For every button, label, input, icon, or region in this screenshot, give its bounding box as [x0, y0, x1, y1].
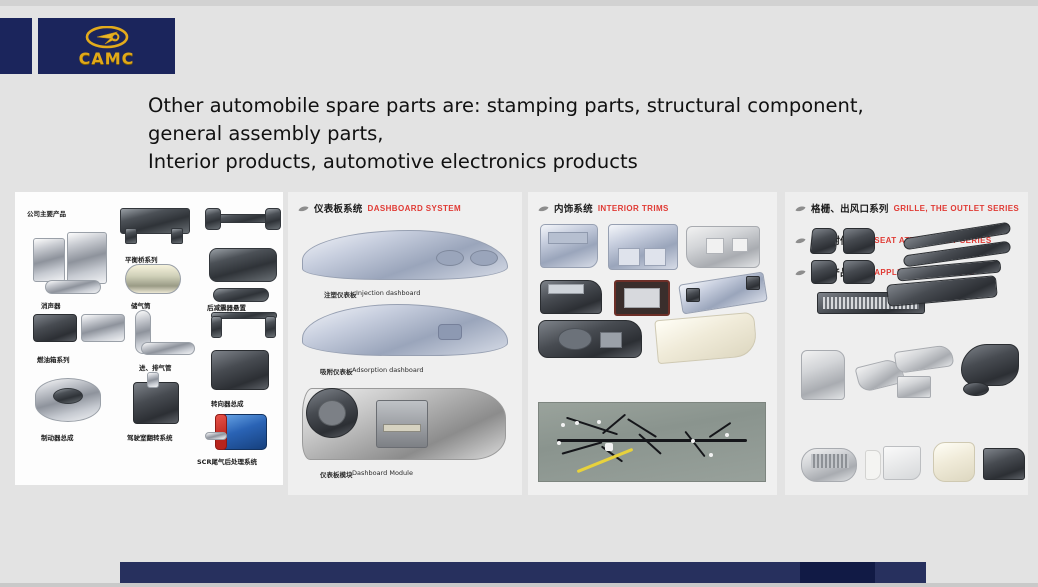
part-glovebox-lid	[654, 312, 757, 365]
panel2-caption-1-cn: 吸附仪表板	[320, 366, 353, 376]
panel-main-products: 公司主要产品 平衡桥系列 消声器 储气筒 燃油箱系列	[15, 192, 283, 485]
part-rear-axle-hub-l	[205, 208, 221, 230]
leaf-bullet-icon	[795, 237, 806, 244]
product-panels-row: 公司主要产品 平衡桥系列 消声器 储气筒 燃油箱系列	[0, 192, 1038, 497]
panel-interior-trims: 内饰系统 INTERIOR TRIMS	[528, 192, 777, 495]
page-title-line-3: Interior products, automotive electronic…	[148, 148, 968, 176]
part-cluster-fascia-screen	[600, 332, 622, 348]
part-muffler-tube	[45, 280, 101, 294]
panel3-heading-cn: 内饰系统	[554, 201, 593, 215]
part-muffler-b	[67, 232, 107, 284]
part-floor-trim-hole-a	[706, 238, 724, 254]
camc-logo-wordmark: CAMC	[79, 51, 135, 67]
leaf-bullet-icon	[795, 269, 806, 276]
part-radio-unit	[383, 424, 421, 432]
slide-root: CAMC Other automobile spare parts are: s…	[0, 0, 1038, 587]
panel1-label-0: 平衡桥系列	[125, 254, 158, 264]
leaf-bullet-icon	[298, 205, 309, 212]
part-overhead-console-slot-a	[618, 248, 640, 266]
part-injection-dashboard-vent-a	[436, 250, 464, 266]
part-rear-suspension-arm-l	[211, 316, 222, 338]
part-adsorption-dashboard	[302, 304, 508, 356]
part-appliance-panel-white	[883, 446, 921, 480]
camc-logo-box: CAMC	[38, 18, 175, 74]
panel1-label-4: 进、排气管	[139, 362, 172, 372]
part-seat-headrest-arm	[894, 344, 954, 374]
harness-branch-f	[684, 431, 705, 457]
panel1-label-1: 消声器	[41, 300, 61, 310]
page-title-line-2: general assembly parts,	[148, 120, 968, 148]
panel2-section-heading: 仪表板系统 DASHBOARD SYSTEM	[288, 192, 522, 215]
panel2-caption-0-cn: 注塑仪表板	[324, 289, 357, 299]
part-cab-tilt-system	[133, 382, 179, 424]
panel4-heading-cn: 格栅、出风口系列	[811, 201, 889, 215]
part-air-outlet-1	[810, 228, 839, 254]
part-door-trim-detail	[548, 232, 588, 244]
page-title: Other automobile spare parts are: stampi…	[148, 92, 968, 176]
part-balance-axle-leg-a	[125, 228, 137, 244]
panel1-label-8: 转向器总成	[211, 398, 244, 408]
top-edge-divider	[0, 0, 1038, 6]
part-seat-bracket	[897, 376, 931, 398]
part-balance-axle-leg-b	[171, 228, 183, 244]
part-air-outlet-4	[843, 260, 875, 284]
harness-branch-e	[638, 433, 662, 455]
part-door-trim-panel	[540, 224, 598, 268]
part-steering-gear	[211, 350, 269, 390]
part-appliance-tub-ivory	[933, 442, 975, 482]
part-overhead-console-slot-b	[644, 248, 666, 266]
bottom-edge-divider	[0, 583, 1038, 587]
part-seat-side-shield	[961, 344, 1019, 386]
harness-connector-3	[557, 441, 561, 445]
part-cab-tilt-pump	[147, 372, 159, 388]
part-floor-trim-hole-b	[732, 238, 748, 252]
panel3-heading-en: INTERIOR TRIMS	[598, 204, 669, 213]
part-seat-back-panel	[801, 350, 845, 400]
part-appliance-cover-small	[865, 450, 881, 480]
part-muffler-a	[33, 238, 65, 282]
panel1-label-6: 制动器总成	[41, 432, 74, 442]
part-injection-dashboard-vent-b	[470, 250, 498, 266]
harness-connector-2	[575, 421, 579, 425]
header-left-accent-bar	[0, 18, 32, 74]
harness-main-trunk	[557, 439, 747, 442]
leaf-bullet-icon	[795, 205, 806, 212]
harness-yellow-lead	[577, 448, 634, 473]
part-seat-knob-cover	[963, 382, 989, 396]
part-scr-nozzle	[205, 432, 227, 440]
camc-eagle-logo-icon	[85, 26, 129, 50]
panel1-label-3: 燃油箱系列	[37, 354, 70, 364]
panel-dashboard-system: 仪表板系统 DASHBOARD SYSTEM 注塑仪表板 Injection d…	[288, 192, 522, 495]
part-cluster-bezel-window	[624, 288, 660, 308]
panel2-caption-0-en: Injection dashboard	[356, 289, 420, 297]
part-adsorption-dashboard-slot	[438, 324, 462, 340]
harness-connector-8	[709, 453, 713, 457]
part-fuel-tank-b	[81, 314, 125, 342]
part-cluster-fascia-dial	[558, 328, 592, 350]
part-steering-wheel-hub	[318, 400, 346, 426]
part-air-tank-right	[209, 248, 277, 282]
part-fuel-tank-a	[33, 314, 77, 342]
harness-connector-4	[597, 420, 601, 424]
part-brake-assembly-core	[53, 388, 83, 404]
panel2-caption-1-en: Adsorption dashboard	[352, 366, 424, 374]
part-lower-trim-inlay	[548, 284, 584, 294]
part-handrail-end-b	[746, 276, 760, 290]
leaf-bullet-icon	[538, 205, 549, 212]
part-appliance-vent-detail	[811, 454, 849, 468]
part-rear-axle-hub-r	[265, 208, 281, 230]
part-exhaust-pipe-horiz	[141, 342, 195, 355]
panel1-label-7: 驾驶室翻转系统	[127, 432, 173, 442]
panel1-label-2: 储气筒	[131, 300, 151, 310]
part-handrail-end-a	[686, 288, 700, 302]
page-title-line-1: Other automobile spare parts are: stampi…	[148, 92, 968, 120]
panel2-caption-2-en: Dashboard Module	[352, 469, 413, 477]
panel1-label-9: SCR尾气后处理系统	[197, 456, 257, 466]
harness-connector-6	[691, 439, 695, 443]
panel4-section-heading-grille: 格栅、出风口系列 GRILLE, THE OUTLET SERIES	[785, 192, 1028, 215]
harness-connector-1	[561, 423, 565, 427]
harness-connector-5	[605, 443, 613, 451]
part-air-tank-right-small	[213, 288, 269, 302]
part-air-outlet-2	[843, 228, 875, 254]
panel1-label-5: 后减震器悬置	[207, 302, 246, 312]
panel4-heading-en: GRILLE, THE OUTLET SERIES	[894, 204, 1020, 213]
part-air-tank-centre	[125, 264, 181, 294]
wiring-harness-photo	[538, 402, 766, 482]
panel-grille-seat-appliance: 格栅、出风口系列 GRILLE, THE OUTLET SERIES 座椅附件系…	[785, 192, 1028, 495]
part-rear-suspension-arm-r	[265, 316, 276, 338]
harness-branch-b	[562, 441, 603, 454]
panel3-section-heading: 内饰系统 INTERIOR TRIMS	[528, 192, 777, 215]
panel2-heading-cn: 仪表板系统	[314, 201, 363, 215]
harness-connector-7	[725, 433, 729, 437]
part-appliance-panel-dark	[983, 448, 1025, 480]
panel1-heading: 公司主要产品	[27, 208, 66, 218]
panel2-heading-en: DASHBOARD SYSTEM	[368, 204, 462, 213]
panel2-caption-2-cn: 仪表板模块	[320, 469, 353, 479]
part-air-outlet-3	[811, 260, 837, 284]
